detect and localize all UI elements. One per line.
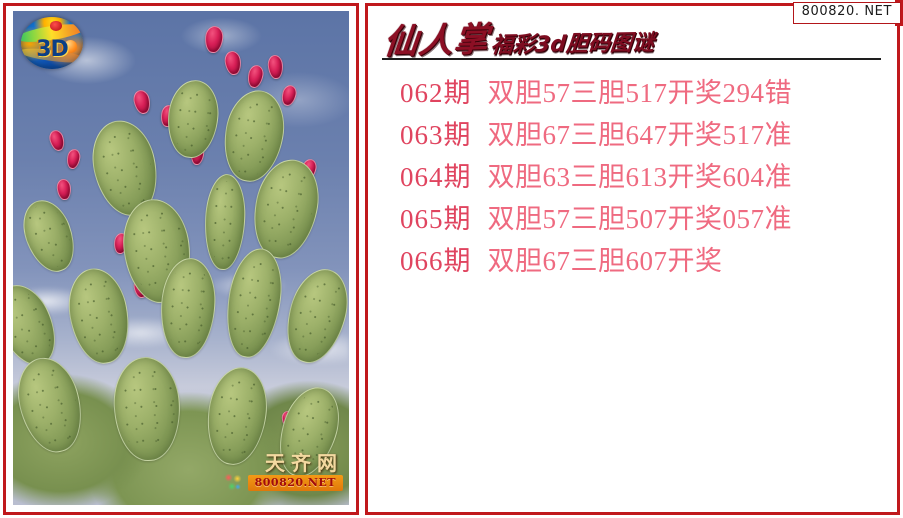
logo-label: 3D (21, 39, 83, 61)
title-main: 仙人掌 (382, 23, 491, 60)
issue-detail: 双胆67三胆647开奖517准 (488, 120, 793, 150)
cactus-photo: 3D 天齐网 800820.NET (13, 11, 349, 505)
issue-number: 065期 (400, 204, 472, 234)
issue-number: 064期 (400, 162, 472, 192)
list-item: 064期双胆63三胆613开奖604准 (400, 156, 887, 198)
issue-number: 063期 (400, 120, 472, 150)
poster-page: 800820. NET (0, 0, 903, 518)
list-item: 066期双胆67三胆607开奖 (400, 240, 887, 282)
3d-logo-icon: 3D (21, 17, 83, 69)
logo-red-accent (50, 21, 62, 31)
title-underline (382, 58, 881, 60)
photo-panel: 3D 天齐网 800820.NET (3, 3, 359, 515)
site-badge: 800820. NET (793, 2, 901, 24)
content-panel: 仙人掌 福彩3d胆码图谜 062期双胆57三胆517开奖294错 063期双胆6… (365, 3, 900, 515)
list-item: 063期双胆67三胆647开奖517准 (400, 114, 887, 156)
list-item: 065期双胆57三胆507开奖057准 (400, 198, 887, 240)
issue-detail: 双胆67三胆607开奖 (488, 246, 723, 276)
issue-detail: 双胆63三胆613开奖604准 (488, 162, 793, 192)
issue-detail: 双胆57三胆507开奖057准 (488, 204, 793, 234)
issue-detail: 双胆57三胆517开奖294错 (488, 78, 793, 108)
prediction-list: 062期双胆57三胆517开奖294错 063期双胆67三胆647开奖517准 … (378, 72, 887, 282)
issue-number: 066期 (400, 246, 472, 276)
list-item: 062期双胆57三胆517开奖294错 (400, 72, 887, 114)
issue-number: 062期 (400, 78, 472, 108)
title-subtitle: 福彩3d胆码图谜 (490, 33, 655, 58)
